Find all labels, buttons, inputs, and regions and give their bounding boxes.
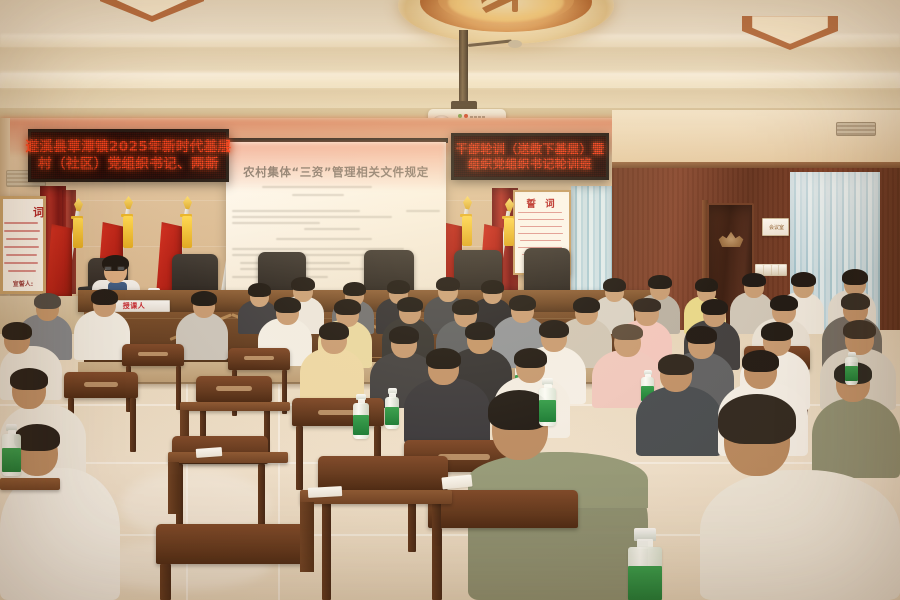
slide-line-7	[276, 238, 372, 240]
right-wall-upper	[612, 110, 900, 164]
light-switch-3[interactable]	[772, 265, 779, 275]
flag-tassel-5	[462, 216, 472, 246]
flag-tassel-3	[182, 216, 192, 248]
oath-left-line-3	[6, 238, 38, 240]
led-banner-left: 遂溪县草潭镇2025年新时代基层 村（社区）党组织书记、两新	[28, 129, 229, 182]
led-banner-right: 干部轮训（送教下基层）暨 组织党组织书记轮训班	[451, 133, 609, 180]
slide-title: 农村集体“三资”管理相关文件规定	[236, 164, 436, 180]
projector-sensor-tip	[508, 40, 522, 48]
handout-paper[interactable]	[196, 447, 223, 458]
slide-line-5	[232, 222, 320, 224]
projector-mount-rod	[459, 30, 468, 108]
flag-tassel-1	[73, 218, 83, 248]
desk-side-panel	[300, 502, 314, 572]
oath-left-line-6	[4, 262, 38, 264]
air-vent-right	[836, 122, 876, 136]
light-switch-2[interactable]	[764, 265, 771, 275]
framed-oath-left-title: 词	[2, 204, 44, 220]
oath-left-signature: 宣誓人:	[0, 279, 46, 288]
desk-side-panel	[168, 462, 179, 514]
oath-left-line-5	[6, 254, 37, 256]
slide-line-2	[292, 194, 344, 196]
slide-line-13	[406, 210, 440, 212]
oath-left-line-1	[4, 222, 38, 224]
hammer-and-sickle-icon	[472, 0, 540, 16]
light-switch-4[interactable]	[779, 265, 786, 275]
speaker-glasses	[104, 266, 126, 271]
desk-surface	[168, 452, 288, 463]
flag-tassel-6	[504, 218, 514, 246]
led-banner-left-line2: 村（社区）党组织书记、两新	[38, 156, 219, 173]
led-banner-right-line1: 干部轮训（送教下基层）暨	[456, 142, 605, 157]
oath-left-line-2	[4, 230, 40, 232]
desk-surface	[0, 478, 60, 490]
door-sign-plate: 会议室	[762, 218, 789, 236]
flag-tassel-2	[123, 216, 133, 248]
ceiling-band-lower	[0, 88, 900, 110]
slide-line-9	[232, 254, 382, 256]
desk-surface	[180, 402, 290, 411]
slide-line-3	[232, 210, 360, 212]
slide-line-6	[304, 228, 360, 230]
slide-line-4	[232, 216, 392, 218]
ceiling-band-upper	[0, 47, 900, 73]
nameplate-text: 授课人	[123, 301, 146, 311]
door-sign-text: 会议室	[763, 224, 790, 231]
framed-oath-right-title: 誓 词	[513, 196, 571, 210]
led-banner-left-line1: 遂溪县草潭镇2025年新时代基层	[26, 139, 232, 156]
cove-light-lower	[0, 72, 900, 88]
oath-left-line-7	[8, 270, 36, 272]
oath-left-line-4	[4, 246, 39, 248]
conference-room-scene: 词 宣誓人: 誓 词	[0, 0, 900, 600]
slide-line-1	[262, 186, 372, 188]
led-banner-right-line2: 组织党组织书记轮训班	[468, 157, 592, 172]
handout-paper[interactable]	[308, 486, 342, 498]
